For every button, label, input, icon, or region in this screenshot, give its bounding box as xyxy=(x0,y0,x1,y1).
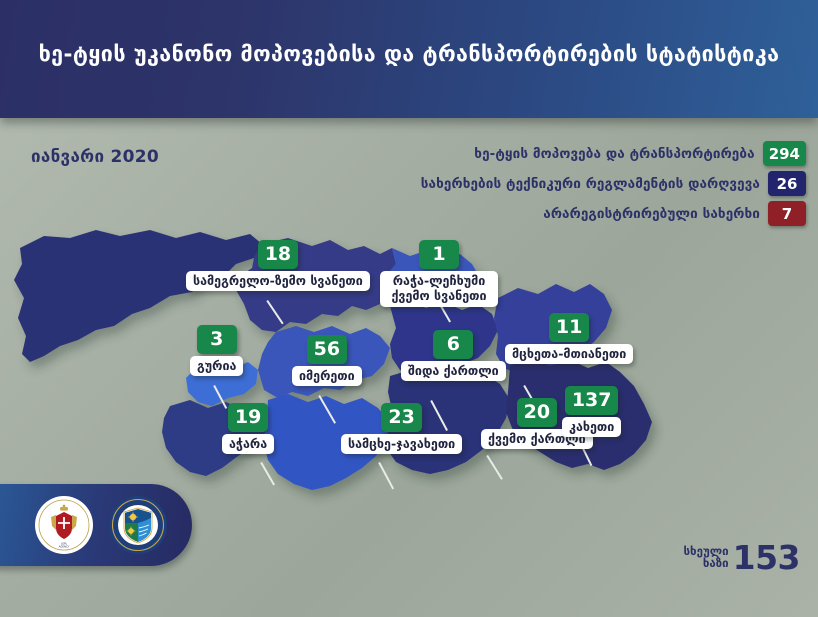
map-callout-racha-lechkhumi[interactable]: 1 რაჭა-ლეჩხუმი ქვემო სვანეთი xyxy=(385,240,493,307)
map-callout-samtskhe-javakheti[interactable]: 23 სამცხე-ჯავახეთი xyxy=(341,403,462,454)
callout-value: 137 xyxy=(565,386,619,415)
callout-value: 3 xyxy=(197,325,237,354)
date-label: იანვარი 2020 xyxy=(31,147,159,167)
legend-label: არარეგისტრირებული სახერხი xyxy=(543,206,760,222)
callout-label: აჭარა xyxy=(222,434,274,454)
infographic-poster: ხე-ტყის უკანონო მოპოვებისა და ტრანსპორტი… xyxy=(0,0,818,617)
callout-value: 18 xyxy=(258,240,298,269)
callout-label: მცხეთა-მთიანეთი xyxy=(505,344,633,364)
callout-value: 56 xyxy=(307,335,347,364)
callout-value: 23 xyxy=(381,403,421,432)
callout-label: სამცხე-ჯავახეთი xyxy=(341,434,462,454)
total-summary: სხეული ხაზი 153 xyxy=(684,543,800,573)
map-callout-imereti[interactable]: 56 იმერეთი xyxy=(292,335,362,386)
legend-item[interactable]: ხე-ტყის მოპოვება და ტრანსპორტირება 294 xyxy=(474,141,806,166)
svg-text:AGENCY: AGENCY xyxy=(59,545,70,549)
legend-value-badge: 7 xyxy=(768,201,806,226)
callout-value: 11 xyxy=(549,313,589,342)
legend-item[interactable]: არარეგისტრირებული სახერხი 7 xyxy=(543,201,806,226)
agency-seal-emblem xyxy=(108,495,168,555)
callout-label: გურია xyxy=(190,356,243,376)
page-title: ხე-ტყის უკანონო მოპოვებისა და ტრანსპორტი… xyxy=(0,42,818,67)
legend: ხე-ტყის მოპოვება და ტრანსპორტირება 294 ს… xyxy=(421,141,806,226)
callout-label: სამეგრელო-ზემო სვანეთი xyxy=(186,271,370,291)
callout-value: 20 xyxy=(517,398,557,427)
legend-value-badge: 26 xyxy=(768,171,806,196)
total-value: 153 xyxy=(733,543,800,573)
callout-value: 6 xyxy=(433,330,473,359)
callout-label: კახეთი xyxy=(562,417,621,437)
callout-label: შიდა ქართლი xyxy=(401,361,506,381)
map-callout-guria[interactable]: 3 გურია xyxy=(190,325,243,376)
total-caption: სხეული ხაზი xyxy=(684,546,729,569)
callout-label: რაჭა-ლეჩხუმი ქვემო სვანეთი xyxy=(380,271,498,307)
georgia-coat-of-arms-emblem: LEPL AGENCY xyxy=(34,495,94,555)
callout-value: 19 xyxy=(228,403,268,432)
callout-value: 1 xyxy=(419,240,459,269)
header-band: ხე-ტყის უკანონო მოპოვებისა და ტრანსპორტი… xyxy=(0,0,818,118)
map-callout-mtskheta-mtianeti[interactable]: 11 მცხეთა-მთიანეთი xyxy=(505,313,633,364)
legend-item[interactable]: სახერხების ტექნიკური რეგლამენტის დარღვევ… xyxy=(421,171,806,196)
legend-label: სახერხების ტექნიკური რეგლამენტის დარღვევ… xyxy=(421,176,760,192)
legend-value-badge: 294 xyxy=(763,141,806,166)
map-callout-kakheti[interactable]: 137 კახეთი xyxy=(562,386,621,437)
map-callout-adjara[interactable]: 19 აჭარა xyxy=(222,403,274,454)
logo-bar: LEPL AGENCY xyxy=(0,484,192,566)
callout-label: იმერეთი xyxy=(292,366,362,386)
map-callout-shida-kartli[interactable]: 6 შიდა ქართლი xyxy=(401,330,506,381)
legend-label: ხე-ტყის მოპოვება და ტრანსპორტირება xyxy=(474,146,754,162)
map-callout-samegrelo-zemo-svaneti[interactable]: 18 სამეგრელო-ზემო სვანეთი xyxy=(186,240,370,291)
